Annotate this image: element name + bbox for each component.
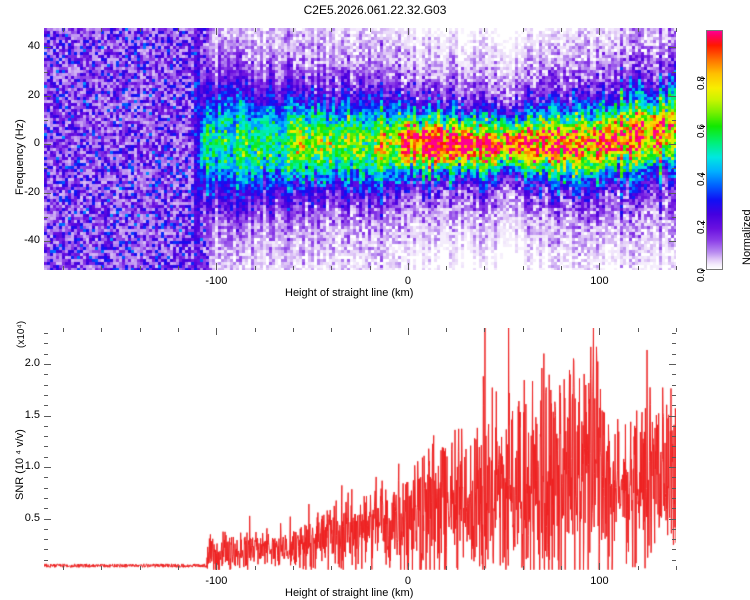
- axis-tick: [178, 28, 179, 32]
- axis-tick: [672, 405, 676, 406]
- axis-tick: [561, 566, 562, 570]
- axis-tick: [216, 328, 217, 335]
- axis-tick: [672, 72, 676, 73]
- colorbar-tick-label: 0.2: [696, 220, 707, 234]
- axis-tick: [331, 266, 332, 270]
- axis-tick: [44, 96, 51, 97]
- axis-tick: [676, 266, 677, 270]
- colorbar-tick-label: 0.8: [696, 76, 707, 90]
- axis-tick: [44, 385, 48, 386]
- axis-tick: [140, 328, 141, 332]
- axis-tick: [523, 28, 524, 32]
- axis-tick: [599, 563, 600, 570]
- axis-tick: [672, 333, 676, 334]
- axis-tick: [484, 28, 485, 32]
- axis-tick: [370, 566, 371, 570]
- axis-tick: [101, 266, 102, 270]
- axis-tick: [44, 539, 48, 540]
- axis-tick: [370, 266, 371, 270]
- axis-tick-label: 2.0: [14, 357, 40, 369]
- axis-tick: [44, 144, 51, 145]
- axis-tick: [672, 446, 676, 447]
- colorbar-tick-label: 0.6: [696, 124, 707, 138]
- colorbar-tick-label: 0.4: [696, 172, 707, 186]
- axis-tick: [44, 168, 48, 169]
- axis-tick: [599, 28, 600, 35]
- axis-tick: [446, 266, 447, 270]
- axis-tick: [44, 477, 48, 478]
- figure-title: C2E5.2026.061.22.32.G03: [0, 3, 750, 17]
- axis-tick-label: -100: [204, 575, 228, 587]
- axis-tick: [672, 477, 676, 478]
- axis-tick: [446, 28, 447, 32]
- axis-tick: [638, 28, 639, 32]
- axis-tick: [672, 498, 676, 499]
- axis-tick: [44, 333, 48, 334]
- axis-tick: [599, 263, 600, 270]
- axis-tick: [672, 168, 676, 169]
- axis-tick: [561, 28, 562, 32]
- axis-tick: [293, 328, 294, 332]
- axis-tick: [293, 28, 294, 32]
- axis-tick: [44, 343, 48, 344]
- axis-tick: [370, 28, 371, 32]
- axis-tick: [672, 549, 676, 550]
- axis-tick-label: 100: [587, 575, 611, 587]
- axis-tick: [255, 28, 256, 32]
- colorbar-gradient: [706, 30, 723, 270]
- axis-tick-label: 100: [587, 275, 611, 287]
- axis-tick: [672, 217, 676, 218]
- axis-tick: [44, 416, 51, 417]
- axis-tick-label: 40: [18, 40, 40, 52]
- axis-tick: [178, 566, 179, 570]
- axis-tick: [669, 467, 676, 468]
- axis-tick: [523, 328, 524, 332]
- snr-exponent-label: (x10⁴): [16, 321, 27, 348]
- axis-tick: [44, 405, 48, 406]
- axis-tick: [44, 217, 48, 218]
- snr-canvas: [44, 328, 676, 570]
- axis-tick: [44, 498, 48, 499]
- axis-tick: [638, 266, 639, 270]
- axis-tick-label: 1.5: [14, 409, 40, 421]
- axis-tick: [638, 328, 639, 332]
- axis-tick: [599, 328, 600, 335]
- axis-tick: [44, 241, 51, 242]
- axis-tick: [672, 343, 676, 344]
- axis-tick: [101, 328, 102, 332]
- axis-tick: [672, 539, 676, 540]
- axis-tick: [672, 488, 676, 489]
- axis-tick: [44, 426, 48, 427]
- axis-tick: [101, 28, 102, 32]
- axis-tick: [140, 566, 141, 570]
- axis-tick: [44, 395, 48, 396]
- snr-plot-area: [44, 328, 676, 570]
- axis-tick: [669, 519, 676, 520]
- axis-tick: [44, 193, 51, 194]
- axis-tick: [63, 566, 64, 570]
- axis-tick-label: 0: [396, 575, 420, 587]
- axis-tick: [669, 47, 676, 48]
- axis-tick: [672, 529, 676, 530]
- axis-tick: [669, 241, 676, 242]
- axis-tick: [561, 328, 562, 332]
- axis-tick: [44, 354, 48, 355]
- axis-tick: [669, 144, 676, 145]
- axis-tick: [101, 566, 102, 570]
- axis-tick: [331, 28, 332, 32]
- axis-tick: [178, 266, 179, 270]
- axis-tick: [216, 263, 217, 270]
- axis-tick: [676, 566, 677, 570]
- spectrogram-plot-area: [44, 28, 676, 270]
- axis-tick: [370, 328, 371, 332]
- axis-tick: [44, 436, 48, 437]
- axis-tick: [331, 566, 332, 570]
- axis-tick: [523, 266, 524, 270]
- axis-tick: [44, 47, 51, 48]
- axis-tick: [44, 529, 48, 530]
- axis-tick: [669, 364, 676, 365]
- axis-tick: [672, 426, 676, 427]
- spectrogram-xlabel: Height of straight line (km): [285, 287, 413, 299]
- axis-tick: [44, 120, 48, 121]
- snr-xlabel: Height of straight line (km): [285, 587, 413, 599]
- axis-tick: [44, 467, 51, 468]
- axis-tick: [44, 446, 48, 447]
- axis-tick: [408, 263, 409, 270]
- axis-tick: [44, 508, 48, 509]
- axis-tick: [178, 328, 179, 332]
- axis-tick: [672, 120, 676, 121]
- axis-tick: [255, 566, 256, 570]
- axis-tick: [255, 266, 256, 270]
- axis-tick: [672, 374, 676, 375]
- axis-tick: [44, 72, 48, 73]
- axis-tick: [669, 193, 676, 194]
- axis-tick-label: 20: [18, 89, 40, 101]
- axis-tick-label: 0.5: [14, 512, 40, 524]
- axis-tick: [672, 457, 676, 458]
- axis-tick: [63, 28, 64, 32]
- axis-tick: [293, 566, 294, 570]
- axis-tick: [44, 488, 48, 489]
- axis-tick: [523, 566, 524, 570]
- snr-ylabel: SNR (10 ⁴ v/v): [14, 429, 26, 500]
- axis-tick: [63, 328, 64, 332]
- spectrogram-canvas: [44, 28, 676, 270]
- axis-tick: [216, 28, 217, 35]
- axis-tick: [63, 266, 64, 270]
- axis-tick: [44, 364, 51, 365]
- axis-tick: [140, 28, 141, 32]
- axis-tick: [672, 508, 676, 509]
- axis-tick: [672, 436, 676, 437]
- axis-tick: [44, 457, 48, 458]
- axis-tick: [331, 328, 332, 332]
- axis-tick: [44, 549, 48, 550]
- axis-tick: [672, 395, 676, 396]
- axis-tick: [408, 328, 409, 335]
- axis-tick: [44, 560, 48, 561]
- spectrogram-ylabel: Frequency (Hz): [14, 119, 26, 195]
- axis-tick: [408, 563, 409, 570]
- axis-tick: [140, 266, 141, 270]
- colorbar-label: Normalized spectral amplitude: [741, 209, 750, 265]
- colorbar-tick-label: 0.0: [696, 268, 707, 282]
- axis-tick-label: 0: [396, 275, 420, 287]
- axis-tick: [561, 266, 562, 270]
- axis-tick: [44, 519, 51, 520]
- axis-tick: [408, 28, 409, 35]
- axis-tick: [638, 566, 639, 570]
- axis-tick: [676, 328, 677, 332]
- axis-tick: [446, 328, 447, 332]
- axis-tick: [669, 96, 676, 97]
- axis-tick: [44, 374, 48, 375]
- axis-tick: [484, 328, 485, 332]
- axis-tick: [293, 266, 294, 270]
- axis-tick: [255, 328, 256, 332]
- axis-tick: [446, 566, 447, 570]
- axis-tick: [484, 566, 485, 570]
- axis-tick-label: -100: [204, 275, 228, 287]
- axis-tick: [676, 28, 677, 32]
- axis-tick: [216, 563, 217, 570]
- axis-tick: [669, 416, 676, 417]
- figure-root: C2E5.2026.061.22.32.G03 -100010040200-20…: [0, 0, 750, 600]
- axis-tick: [672, 560, 676, 561]
- axis-tick: [672, 354, 676, 355]
- axis-tick-label: -40: [18, 234, 40, 246]
- axis-tick: [672, 385, 676, 386]
- axis-tick: [484, 266, 485, 270]
